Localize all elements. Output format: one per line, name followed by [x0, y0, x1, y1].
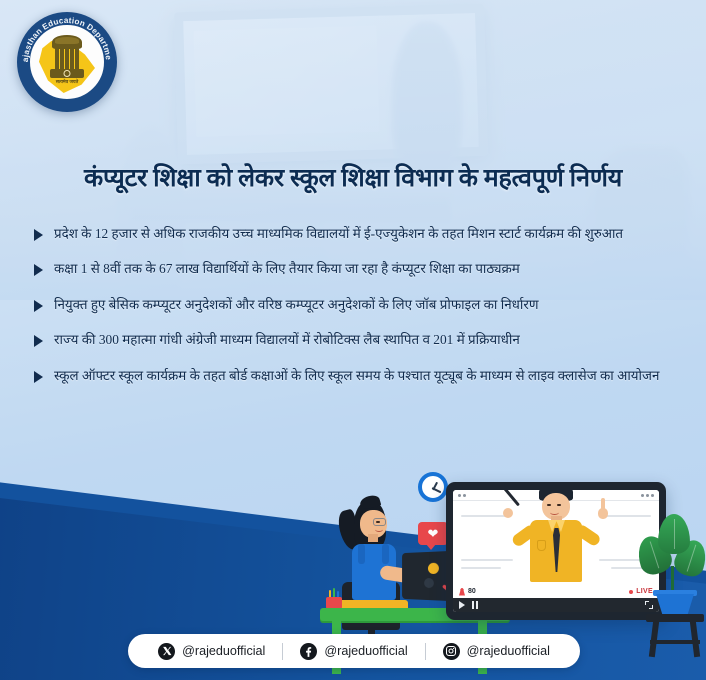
online-class-illustration: ❤ [318, 470, 706, 650]
list-item-text: राज्य की 300 महात्मा गांधी अंग्रेजी माध्… [54, 330, 520, 350]
menu-dots-icon [641, 494, 654, 497]
plant-pot [656, 594, 694, 616]
emblem-motto: सत्यमेव जयते [56, 79, 78, 85]
student-strap [358, 544, 365, 564]
video-frame: 80 LIVE [453, 501, 659, 612]
social-handles-bar: @rajeduofficial @rajeduofficial @rajeduo… [128, 634, 580, 668]
social-handle-facebook: @rajeduofficial [324, 644, 407, 658]
list-item-text: प्रदेश के 12 हजार से अधिक राजकीय उच्च मा… [54, 224, 623, 244]
student-at-laptop-icon: ❤ [328, 496, 458, 646]
list-item: स्कूल ऑफ्टर स्कूल कार्यक्रम के तहत बोर्ड… [34, 366, 674, 386]
list-item-text: नियुक्त हुए बेसिक कम्प्यूटर अनुदेशकों और… [54, 295, 539, 315]
triangle-bullet-icon [34, 300, 43, 312]
plant-leaf [658, 514, 690, 554]
teacher-shirt [530, 520, 582, 582]
rajasthan-education-department-logo: Rajasthan Education Department सत्यमेव ज… [17, 12, 117, 112]
window-dots-icon [458, 494, 466, 497]
viewer-count: 80 [459, 588, 476, 596]
facebook-icon[interactable] [300, 643, 317, 660]
teacher-eye [557, 504, 561, 506]
teacher-pointing-finger [601, 498, 605, 511]
social-handle-x: @rajeduofficial [182, 644, 265, 658]
teacher-eye [547, 504, 551, 506]
social-handle-instagram: @rajeduofficial [467, 644, 550, 658]
student-eye [376, 521, 380, 523]
triangle-bullet-icon [34, 229, 43, 241]
page-title: कंप्यूटर शिक्षा को लेकर स्कूल शिक्षा विभ… [0, 160, 706, 194]
stool-crossbar [650, 640, 700, 644]
student-strap [382, 544, 389, 564]
viewer-count-value: 80 [468, 588, 476, 595]
live-dot-icon [629, 590, 633, 594]
teacher-shirt-pocket [537, 540, 546, 551]
list-item: प्रदेश के 12 हजार से अधिक राजकीय उच्च मा… [34, 224, 674, 244]
triangle-bullet-icon [34, 371, 43, 383]
monitor-video-player: 80 LIVE [446, 482, 666, 620]
ashoka-emblem-icon: सत्यमेव जयते [47, 35, 87, 85]
playback-controls[interactable] [459, 601, 478, 609]
video-stats-bar: 80 LIVE [453, 585, 659, 598]
emblem-pillars [55, 48, 79, 70]
teacher-hand-left [503, 508, 513, 518]
pointer-stick-icon [494, 490, 520, 506]
ashoka-chakra-icon [64, 70, 71, 77]
x-twitter-icon[interactable] [158, 643, 175, 660]
student-smile [375, 527, 383, 532]
teacher-with-pointer-icon [497, 490, 615, 582]
list-item-text: कक्षा 1 से 8वीं तक के 67 लाख विद्यार्थिय… [54, 259, 520, 279]
pause-icon[interactable] [472, 601, 478, 609]
laptop-sticker [428, 563, 439, 574]
potted-plant-icon [638, 514, 706, 650]
text-placeholder-line [461, 567, 501, 569]
instagram-icon[interactable] [443, 643, 460, 660]
person-icon [459, 588, 465, 596]
decision-list: प्रदेश के 12 हजार से अधिक राजकीय उच्च मा… [34, 224, 674, 401]
video-control-bar[interactable] [453, 598, 659, 612]
social-item-facebook[interactable]: @rajeduofficial [283, 643, 424, 660]
laptop-sticker [424, 578, 434, 588]
list-item-text: स्कूल ऑफ्टर स्कूल कार्यक्रम के तहत बोर्ड… [54, 366, 659, 386]
list-item: नियुक्त हुए बेसिक कम्प्यूटर अनुदेशकों और… [34, 295, 674, 315]
list-item: कक्षा 1 से 8वीं तक के 67 लाख विद्यार्थिय… [34, 259, 674, 279]
social-item-instagram[interactable]: @rajeduofficial [426, 643, 567, 660]
list-item: राज्य की 300 महात्मा गांधी अंग्रेजी माध्… [34, 330, 674, 350]
monitor-screen: 80 LIVE [453, 490, 659, 612]
play-icon[interactable] [459, 601, 465, 609]
triangle-bullet-icon [34, 264, 43, 276]
teacher-smile [550, 510, 559, 515]
emblem-lions [52, 35, 82, 49]
infographic-poster: Rajasthan Education Department सत्यमेव ज… [0, 0, 706, 680]
social-item-x[interactable]: @rajeduofficial [141, 643, 282, 660]
triangle-bullet-icon [34, 335, 43, 347]
teacher-necktie [553, 528, 560, 572]
